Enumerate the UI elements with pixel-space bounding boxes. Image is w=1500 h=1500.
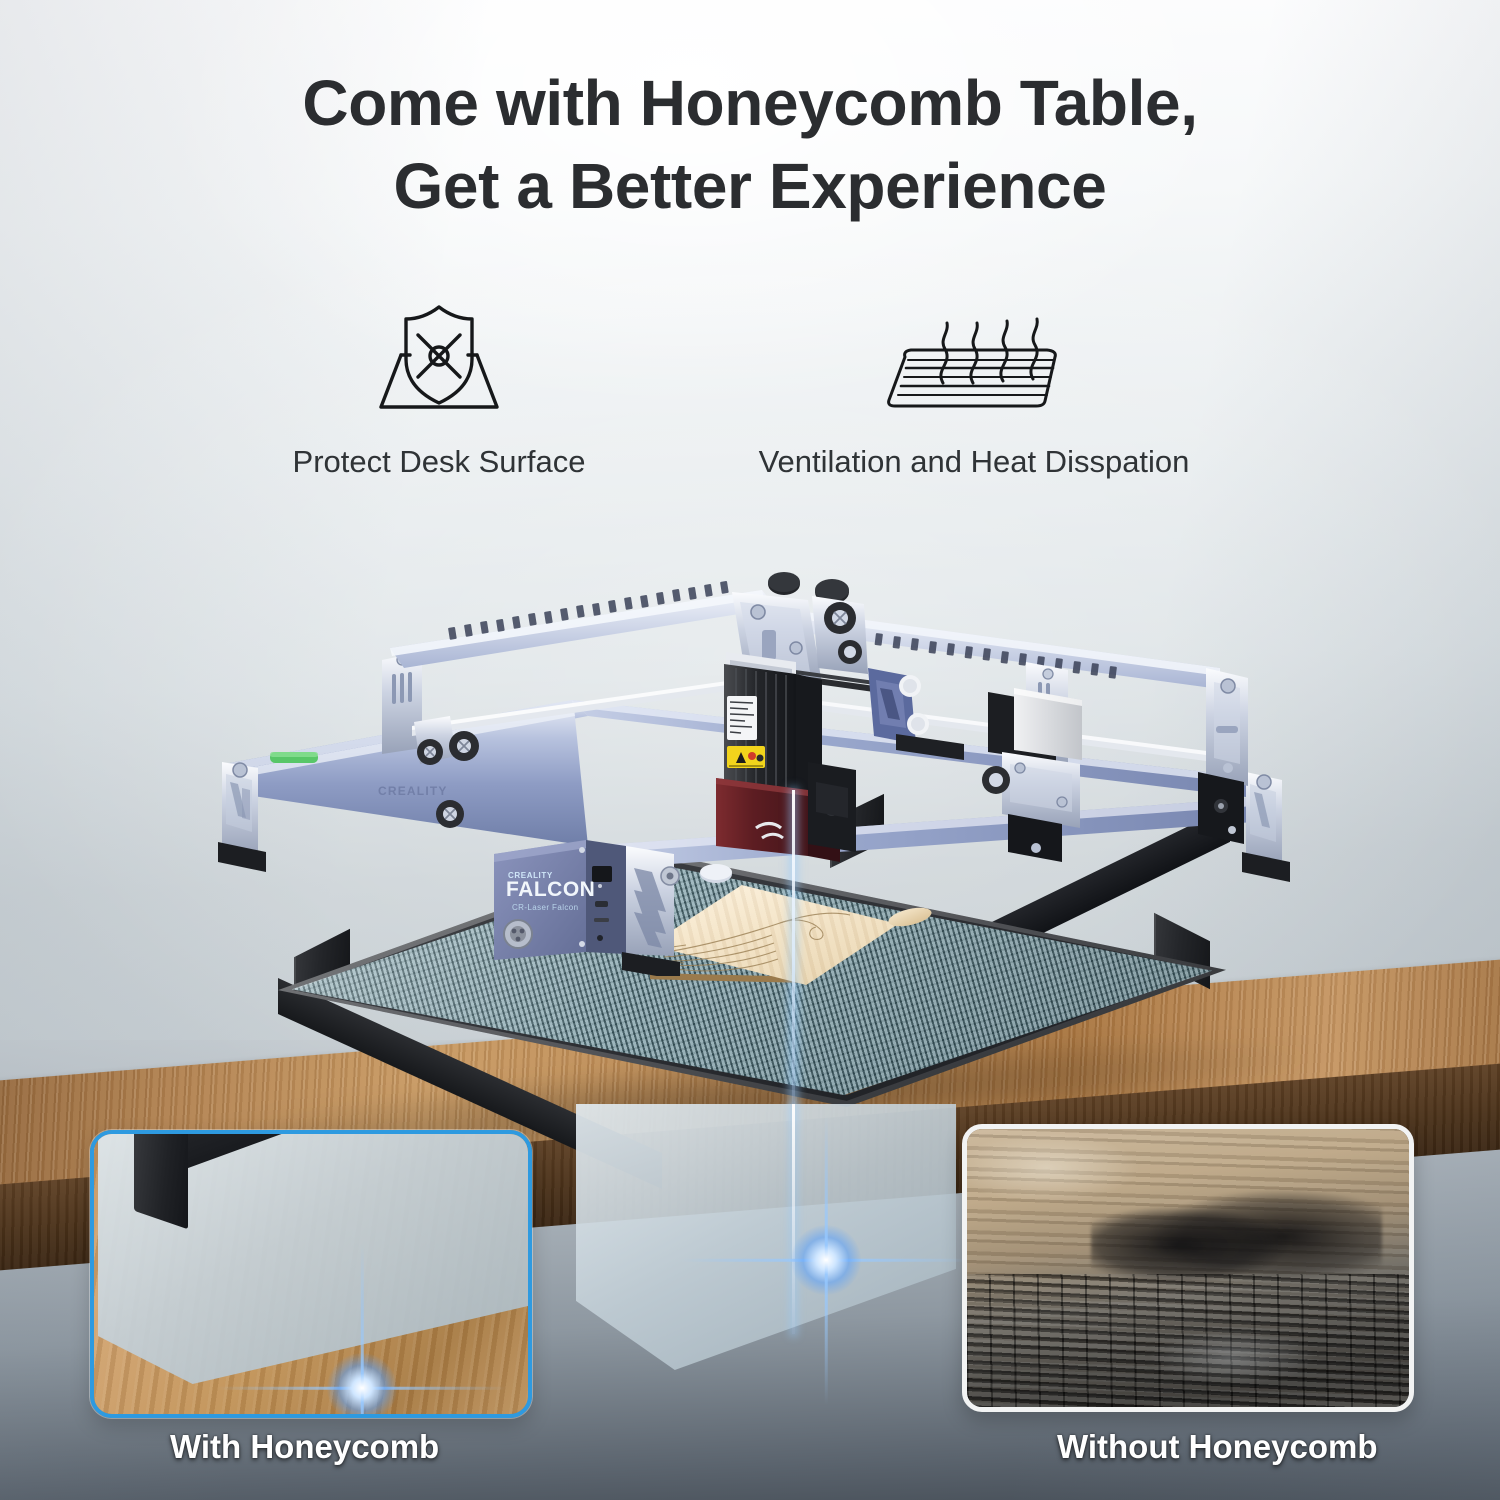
- page-title: Come with Honeycomb Table, Get a Better …: [0, 62, 1500, 228]
- burnt-wood-highlights: [967, 1129, 1409, 1407]
- comparison-caption-right: Without Honeycomb: [1057, 1428, 1378, 1466]
- comparison-panel-with-honeycomb: [90, 1130, 532, 1418]
- comparison-panel-without-honeycomb: [962, 1124, 1414, 1412]
- ventilation-grate-heat-icon: [690, 288, 1258, 428]
- brand-name-text: FALCON: [506, 878, 595, 901]
- svg-text:CREALITY: CREALITY: [378, 784, 448, 798]
- feature-label: Protect Desk Surface: [253, 444, 625, 480]
- shield-desk-protect-icon: [253, 288, 625, 428]
- laser-engraver-machine: CREALITY: [196, 556, 1304, 976]
- feature-label: Ventilation and Heat Disspation: [690, 444, 1258, 480]
- laser-beam-upper: [792, 790, 795, 1120]
- laser-beam-lower: [792, 1104, 795, 1334]
- brand-model-text: CR-Laser Falcon: [512, 903, 578, 912]
- feature-ventilation-heat-dissipation: Ventilation and Heat Disspation: [690, 288, 1258, 480]
- headline-line-1: Come with Honeycomb Table,: [302, 67, 1197, 139]
- headline-line-2: Get a Better Experience: [0, 145, 1500, 228]
- comparison-caption-left: With Honeycomb: [170, 1428, 439, 1466]
- marketing-image-stage: Come with Honeycomb Table, Get a Better …: [0, 0, 1500, 1500]
- feature-row: Protect Desk Surface: [0, 288, 1500, 488]
- feature-protect-desk-surface: Protect Desk Surface: [253, 288, 625, 480]
